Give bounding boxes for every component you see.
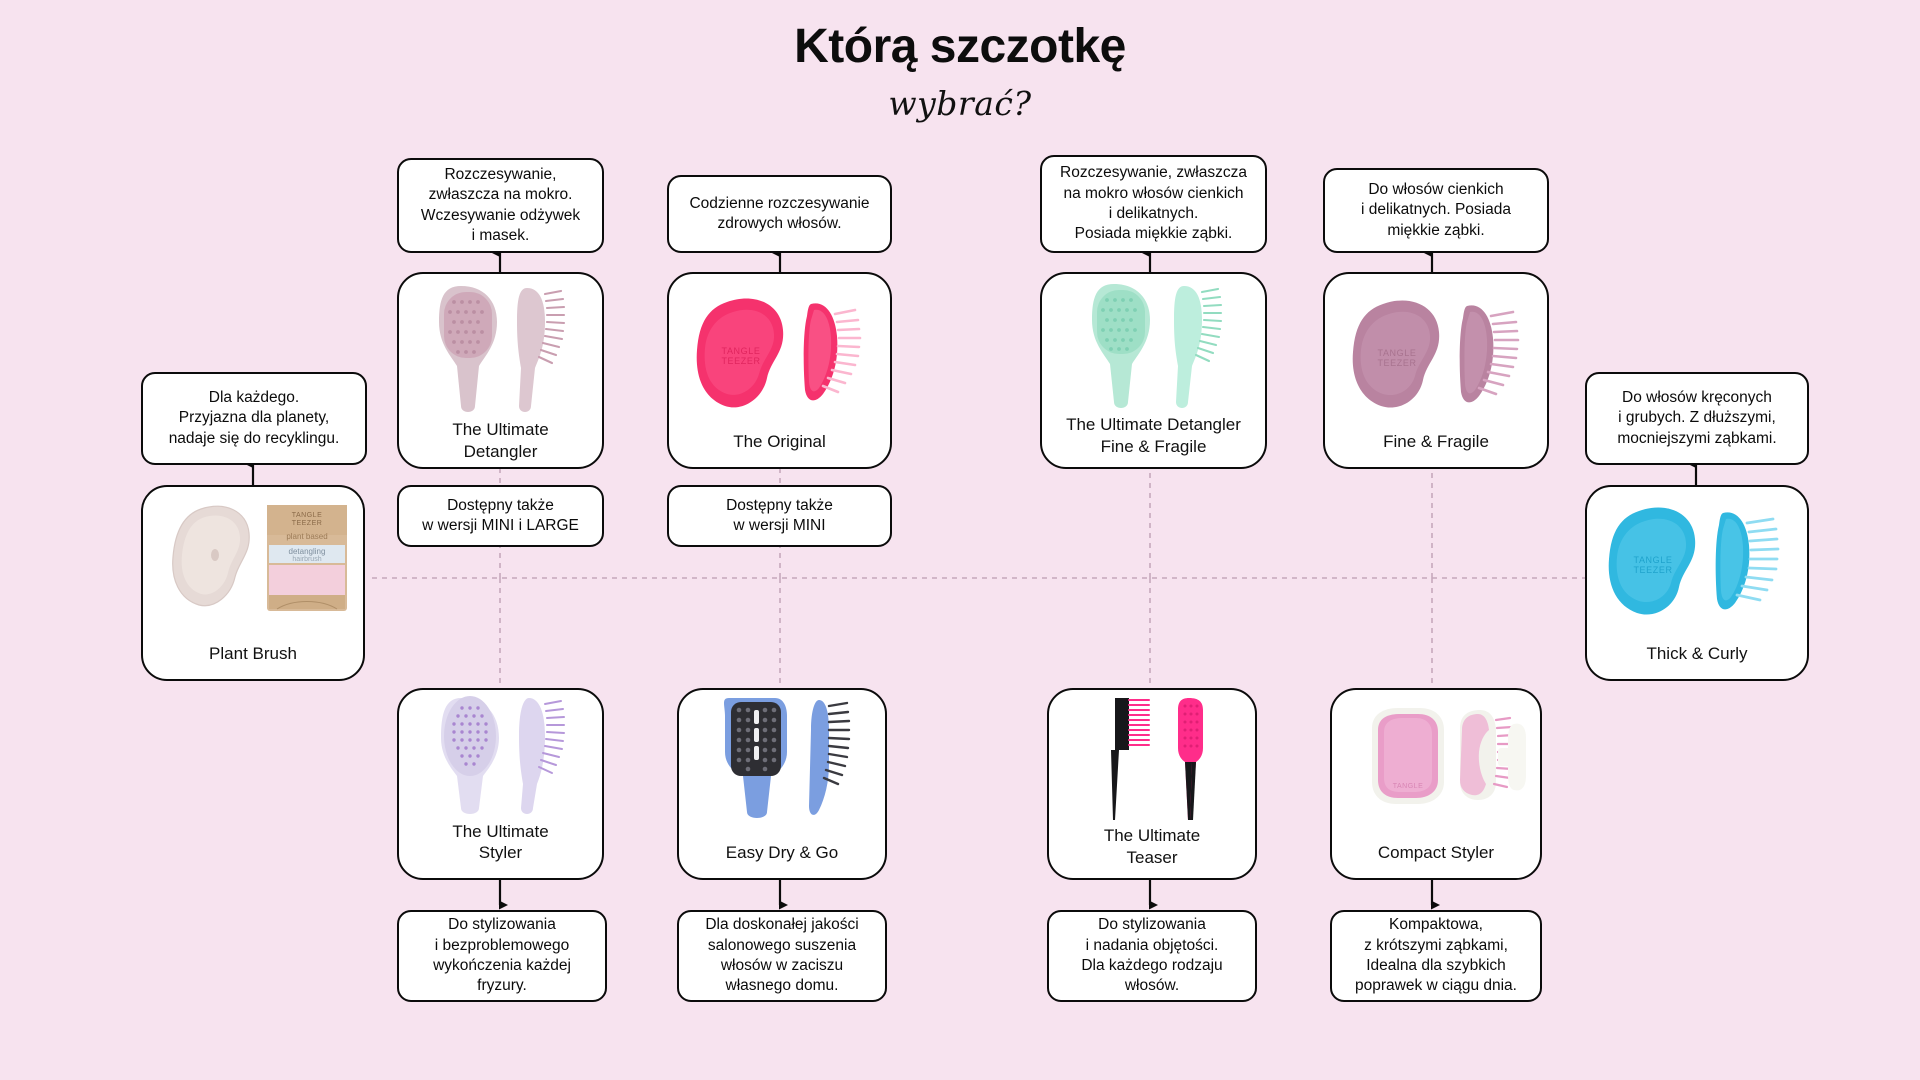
svg-text:TANGLE: TANGLE xyxy=(722,346,761,356)
callout-plant-brush: Dla każdego. Przyjazna dla planety, nada… xyxy=(141,372,367,465)
callout-fine-fragile: Do włosów cienkich i delikatnych. Posiad… xyxy=(1323,168,1549,253)
ultimate-styler-image xyxy=(399,690,602,821)
callout-text: Do włosów cienkich i delikatnych. Posiad… xyxy=(1361,180,1511,241)
callout-text: Do stylizowania i nadania objętości. Dla… xyxy=(1081,915,1222,997)
callout-thick-curly: Do włosów kręconych i grubych. Z dłuższy… xyxy=(1585,372,1809,465)
product-card-plant-brush[interactable]: TANGLE TEEZER plant based detangling hai… xyxy=(141,485,365,681)
page-subtitle: wybrać? xyxy=(0,84,1920,123)
callout-text: Codzienne rozczesywanie zdrowych włosów. xyxy=(689,194,869,235)
callout-text: Dla każdego. Przyjazna dla planety, nada… xyxy=(169,388,340,449)
product-card-ultimate-detangler[interactable]: The Ultimate Detangler xyxy=(397,272,604,469)
svg-text:hairbrush: hairbrush xyxy=(292,556,321,563)
callout-text: Kompaktowa, z krótszymi ząbkami, Idealna… xyxy=(1355,915,1517,997)
easy-dry-go-image xyxy=(679,690,885,842)
callout-ultimate-styler: Do stylizowania i bezproblemowego wykońc… xyxy=(397,910,607,1002)
product-name: Fine & Fragile xyxy=(1377,431,1495,467)
product-card-fine-fragile[interactable]: TANGLE TEEZER Fine & Fragile xyxy=(1323,272,1549,469)
callout-ultimate-teaser: Do stylizowania i nadania objętości. Dla… xyxy=(1047,910,1257,1002)
product-name: The Ultimate Teaser xyxy=(1098,825,1206,880)
compact-styler-image: TANGLE xyxy=(1332,690,1540,842)
callout-compact-styler: Kompaktowa, z krótszymi ząbkami, Idealna… xyxy=(1330,910,1542,1002)
product-card-ultimate-styler[interactable]: The Ultimate Styler xyxy=(397,688,604,880)
product-name: The Original xyxy=(727,431,832,467)
ultimate-teaser-image xyxy=(1049,690,1255,825)
product-card-compact-styler[interactable]: TANGLE Compact Styler xyxy=(1330,688,1542,880)
svg-text:plant based: plant based xyxy=(286,532,327,541)
product-card-ultimate-teaser[interactable]: The Ultimate Teaser xyxy=(1047,688,1257,880)
callout-text: Rozczesywanie, zwłaszcza na mokro. Wczes… xyxy=(421,165,580,247)
callout-text: Dla doskonałej jakości salonowego suszen… xyxy=(705,915,858,997)
callout-text: Do stylizowania i bezproblemowego wykońc… xyxy=(433,915,571,997)
product-name: Plant Brush xyxy=(203,643,303,679)
svg-text:TANGLE: TANGLE xyxy=(1634,555,1673,565)
thick-curly-image: TANGLE TEEZER xyxy=(1587,487,1807,643)
callout-ultimate-detangler: Rozczesywanie, zwłaszcza na mokro. Wczes… xyxy=(397,158,604,253)
product-name: The Ultimate Styler xyxy=(446,821,554,879)
svg-text:TANGLE: TANGLE xyxy=(292,512,323,519)
note-original-variants: Dostępny także w wersji MINI xyxy=(667,485,892,547)
note-detangler-variants: Dostępny także w wersji MINI i LARGE xyxy=(397,485,604,547)
product-card-easy-dry-go[interactable]: Easy Dry & Go xyxy=(677,688,887,880)
note-text: Dostępny także w wersji MINI i LARGE xyxy=(422,496,579,537)
svg-text:detangling: detangling xyxy=(289,547,326,556)
svg-text:TEEZER: TEEZER xyxy=(1633,565,1672,575)
product-name: The Ultimate Detangler Fine & Fragile xyxy=(1060,414,1247,469)
svg-text:TEEZER: TEEZER xyxy=(292,520,323,527)
callout-easy-dry-go: Dla doskonałej jakości salonowego suszen… xyxy=(677,910,887,1002)
callout-ultimate-detangler-fine-fragile: Rozczesywanie, zwłaszcza na mokro włosów… xyxy=(1040,155,1267,253)
ultimate-detangler-fine-fragile-image xyxy=(1042,274,1265,414)
ultimate-detangler-image xyxy=(399,274,602,419)
plant-brush-image: TANGLE TEEZER plant based detangling hai… xyxy=(143,487,363,643)
product-card-original[interactable]: TANGLE TEEZER The Original xyxy=(667,272,892,469)
callout-text: Do włosów kręconych i grubych. Z dłuższy… xyxy=(1617,388,1776,449)
product-card-ultimate-detangler-fine-fragile[interactable]: The Ultimate Detangler Fine & Fragile xyxy=(1040,272,1267,469)
product-name: Easy Dry & Go xyxy=(720,842,844,878)
svg-text:TANGLE: TANGLE xyxy=(1393,783,1424,790)
svg-text:TEEZER: TEEZER xyxy=(1377,358,1416,368)
callout-original: Codzienne rozczesywanie zdrowych włosów. xyxy=(667,175,892,253)
product-name: Thick & Curly xyxy=(1640,643,1753,679)
svg-text:TEEZER: TEEZER xyxy=(721,356,760,366)
product-card-thick-curly[interactable]: TANGLE TEEZER Thick & Curly xyxy=(1585,485,1809,681)
product-name: Compact Styler xyxy=(1372,842,1500,878)
callout-text: Rozczesywanie, zwłaszcza na mokro włosów… xyxy=(1060,163,1247,245)
note-text: Dostępny także w wersji MINI xyxy=(726,496,833,537)
fine-fragile-image: TANGLE TEEZER xyxy=(1325,274,1547,431)
title-block: Którą szczotkę wybrać? xyxy=(0,22,1920,123)
svg-text:TANGLE: TANGLE xyxy=(1378,348,1417,358)
original-image: TANGLE TEEZER xyxy=(669,274,890,431)
page-title: Którą szczotkę xyxy=(0,22,1920,72)
product-name: The Ultimate Detangler xyxy=(446,419,554,469)
